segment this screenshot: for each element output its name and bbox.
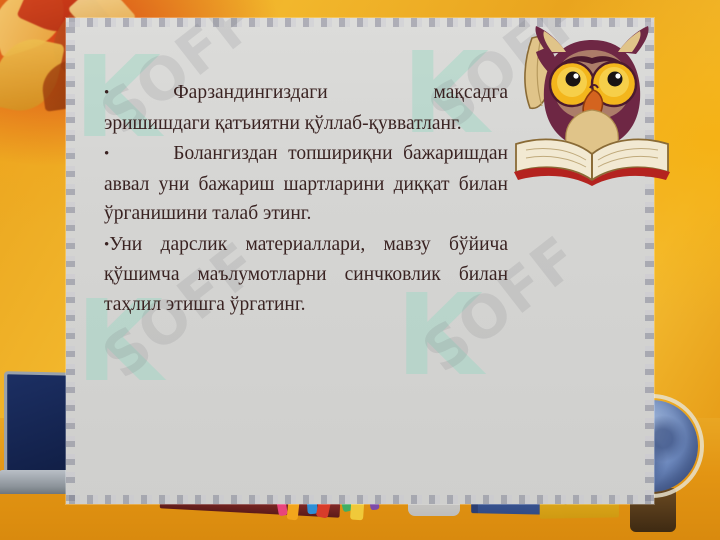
bullet-item: •Фарзандингиздаги мақсадга эришишдаги қа… <box>104 78 508 138</box>
bullet-item: •Болангиздан топшириқни бажаришдан аввал… <box>104 139 508 229</box>
owl-icon <box>496 14 688 186</box>
bead-border-left <box>66 18 75 504</box>
slide-canvas: K SOFF K SOFF K SOFF K SOFF <box>0 0 720 540</box>
bullet-item: •Уни дарслик материаллари, мавзу бўйича … <box>104 230 508 320</box>
bullet-text: Уни дарслик материаллари, мавзу бўйича қ… <box>104 234 508 315</box>
bullet-list: •Фарзандингиздаги мақсадга эришишдаги қа… <box>104 78 508 319</box>
bullet-text: Болангиздан топшириқни бажаришдан аввал … <box>104 143 508 224</box>
bullet-marker: • <box>104 146 109 162</box>
bullet-marker: • <box>104 85 109 101</box>
bead-border-bottom <box>66 495 654 504</box>
bullet-text: Фарзандингиздаги мақсадга эришишдаги қат… <box>104 82 508 134</box>
owl-illustration <box>496 14 688 186</box>
